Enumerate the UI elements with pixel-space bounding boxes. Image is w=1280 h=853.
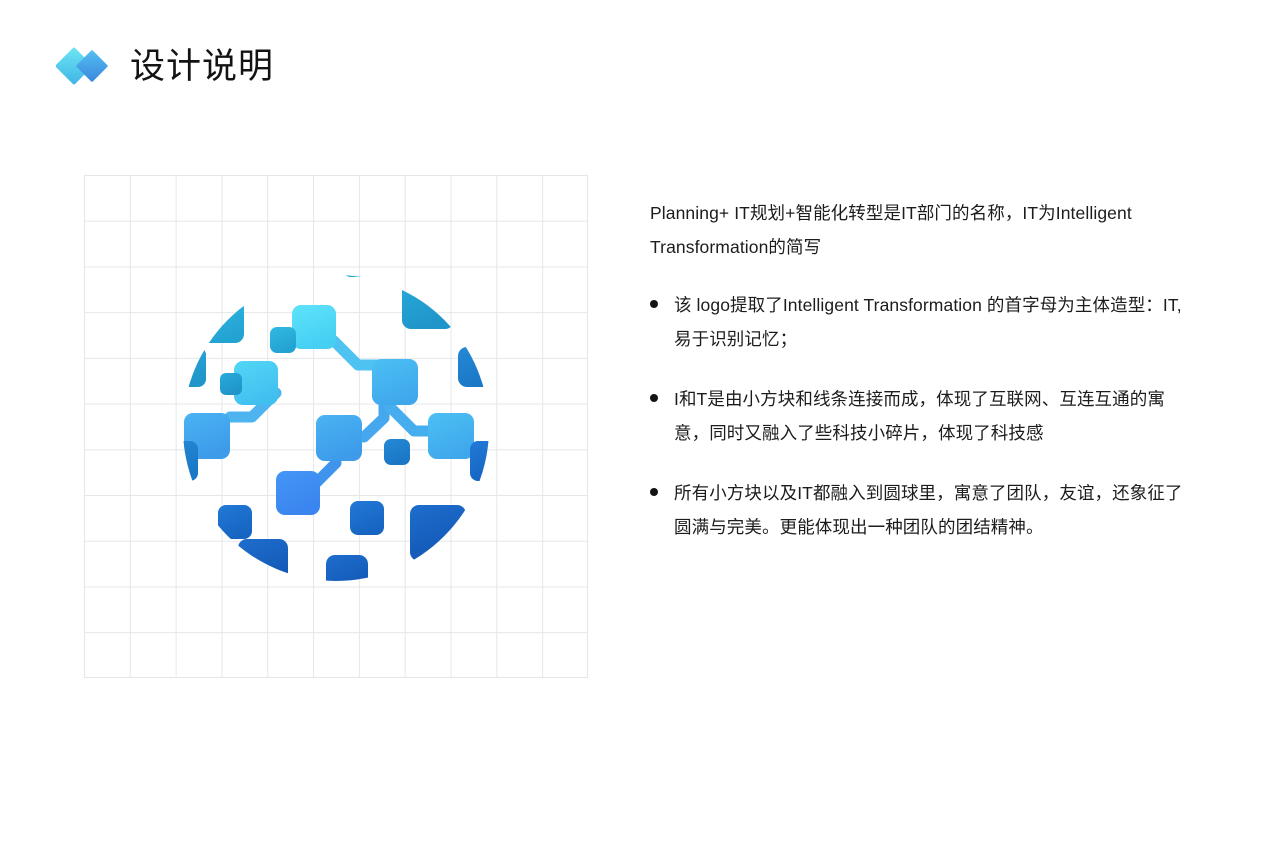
logo-fragment <box>270 327 296 353</box>
double-diamond-icon <box>56 45 112 87</box>
logo-rim-fragment <box>254 243 294 283</box>
list-item: I和T是由小方块和线条连接而成，体现了互联网、互连互通的寓意，同时又融入了些科技… <box>650 382 1195 450</box>
bullet-dot-icon <box>650 394 658 402</box>
list-item-text: 所有小方块以及IT都融入到圆球里，寓意了团队，友谊，还象征了圆满与完美。更能体现… <box>674 483 1183 537</box>
logo-tile <box>276 471 320 515</box>
logo-rim-fragment <box>402 277 454 329</box>
list-item-text: 该 logo提取了Intelligent Transformation 的首字母… <box>674 295 1182 349</box>
logo-fragment <box>218 505 252 539</box>
logo-tile <box>316 415 362 461</box>
logo-rim-fragment <box>458 347 498 387</box>
logo-rim-fragment <box>168 441 198 481</box>
logo-rim-fragment <box>238 539 288 589</box>
bullet-dot-icon <box>650 488 658 496</box>
page-header: 设计说明 <box>56 45 274 87</box>
logo-fragment <box>384 439 410 465</box>
logo-rim-fragment <box>410 505 466 561</box>
description-panel: Planning+ IT规划+智能化转型是IT部门的名称，IT为Intellig… <box>650 196 1195 544</box>
logo-rim-fragment <box>342 239 380 277</box>
list-item-text: I和T是由小方块和线条连接而成，体现了互联网、互连互通的寓意，同时又融入了些科技… <box>674 389 1165 443</box>
logo-fragment <box>220 373 242 395</box>
logo-grid-panel <box>84 175 588 678</box>
logo-tile <box>428 413 474 459</box>
page-title: 设计说明 <box>130 49 274 84</box>
description-bullet-list: 该 logo提取了Intelligent Transformation 的首字母… <box>650 288 1195 544</box>
planning-plus-it-logo <box>84 175 588 678</box>
logo-fragment <box>350 501 384 535</box>
logo-rim-fragment <box>326 555 368 597</box>
logo-rim-fragment <box>170 347 206 387</box>
bullet-dot-icon <box>650 300 658 308</box>
list-item: 所有小方块以及IT都融入到圆球里，寓意了团队，友谊，还象征了圆满与完美。更能体现… <box>650 476 1195 544</box>
intro-paragraph: Planning+ IT规划+智能化转型是IT部门的名称，IT为Intellig… <box>650 196 1195 264</box>
logo-tile <box>372 359 418 405</box>
logo-tile <box>292 305 336 349</box>
logo-rim-fragment <box>200 299 244 343</box>
logo-rim-fragment <box>470 441 500 481</box>
list-item: 该 logo提取了Intelligent Transformation 的首字母… <box>650 288 1195 356</box>
